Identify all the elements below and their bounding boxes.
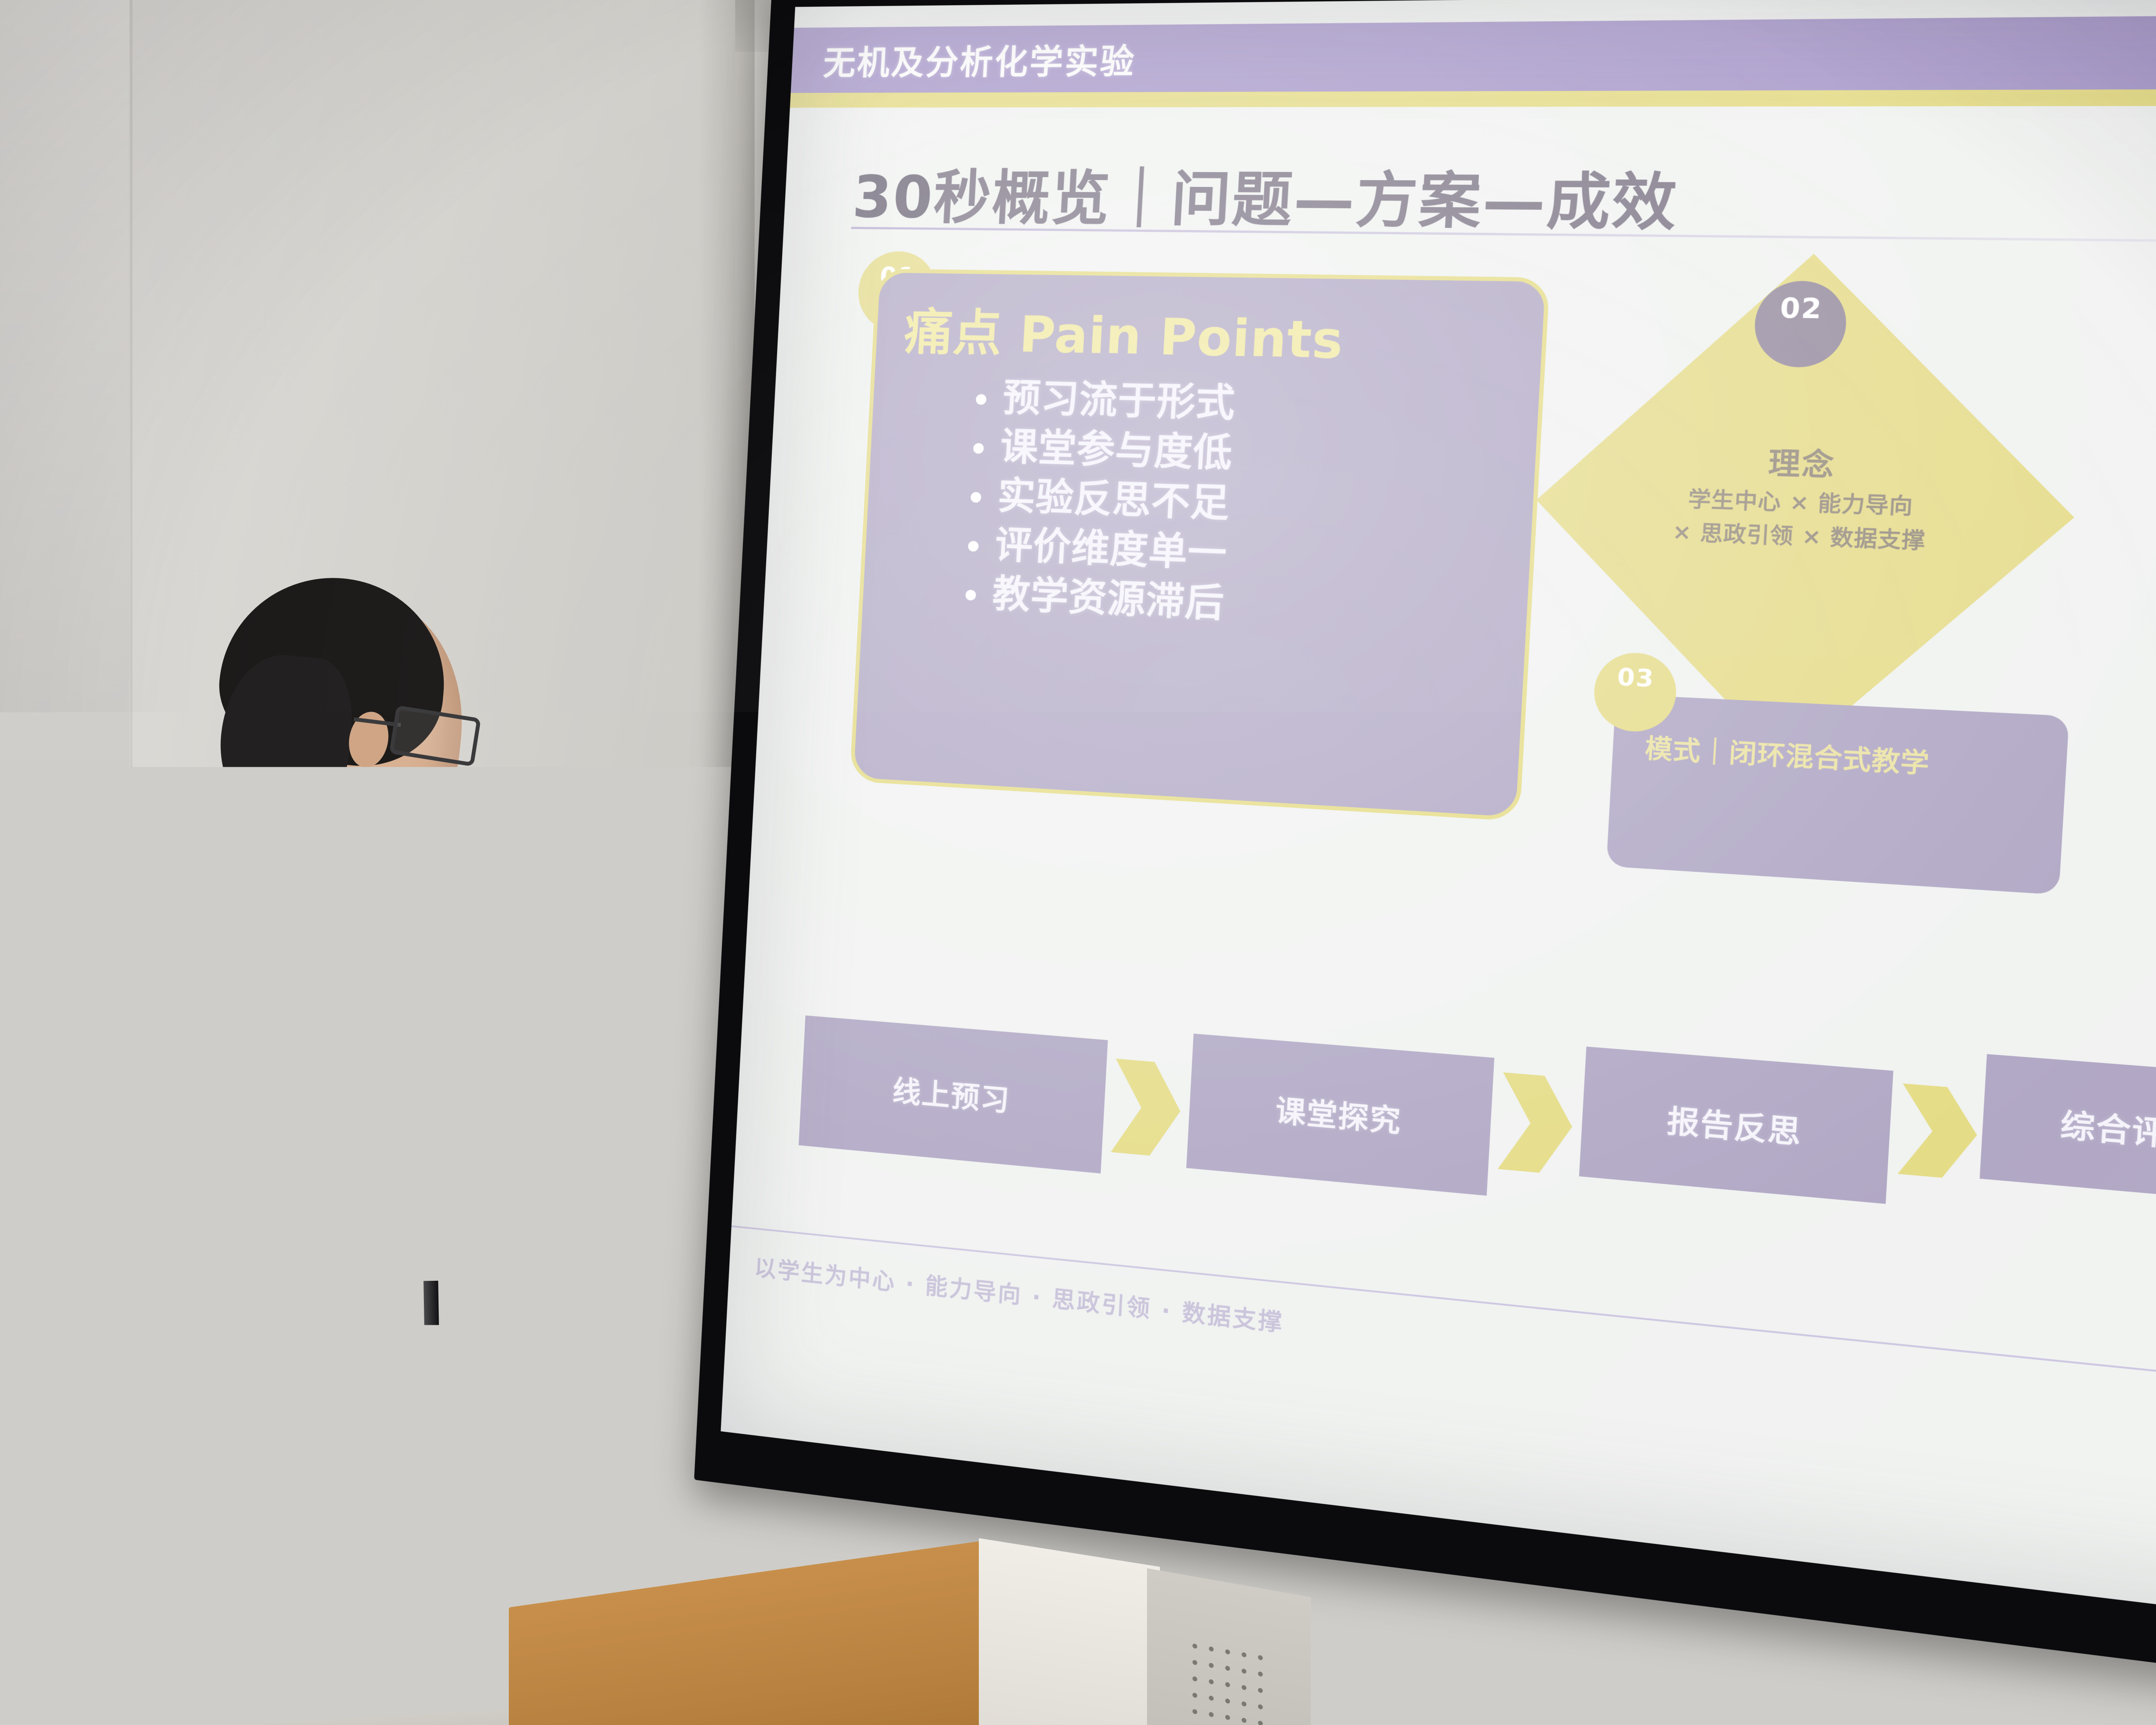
flow-step-4: 综合评价 [1980,1054,2156,1205]
flow-arrow-icon [1498,1073,1575,1176]
pain-points-list: 预习流于形式 课堂参与度低 实验反思不足 评价维度单一 教学资源滞后 [862,370,1540,642]
flow-step-1: 线上预习 [799,1016,1108,1173]
process-flow: 线上预习 课堂探究 报告反思 综合评价 [799,998,2156,1273]
concept-heading: 理念 [1618,435,1991,489]
card-pain-points: 痛点 Pain Points 预习流于形式 课堂参与度低 实验反思不足 评价维度… [849,269,1550,822]
pain-points-heading: 痛点 Pain Points [875,273,1545,377]
concept-label: 理念 学生中心 × 能力导向 × 思政引领 × 数据支撑 [1615,435,1991,557]
flow-arrow-icon [1898,1083,1980,1180]
slide-title-rest: 秒概览｜问题—方案—成效 [932,164,1680,239]
microphone-adjust-knob[interactable] [418,1565,470,1613]
slide-title-number: 30 [851,163,935,232]
presenter-chin [411,769,469,839]
slide-header-band: 无机及分析化学实验 [791,13,2156,93]
vent-grille-icon [1190,1640,1268,1725]
flow-arrow-icon [1111,1059,1183,1158]
mode-heading: 模式｜闭环混合式教学 [1612,694,2069,789]
wall-outlet-left [1466,1633,1550,1707]
card-mode: 模式｜闭环混合式教学 [1606,694,2069,895]
lectern [379,1393,1457,1725]
lectern-side-panel [979,1538,1160,1725]
flow-step-3: 报告反思 [1579,1047,1893,1204]
flow-step-2: 课堂探究 [1186,1034,1494,1196]
slide-header-text: 无机及分析化学实验 [822,34,1137,84]
classroom-photo-scene: ◖ ▪▪▪ 无机及分析化学实验 30秒概览｜问题—方案—成效 01 [0,0,2156,1725]
